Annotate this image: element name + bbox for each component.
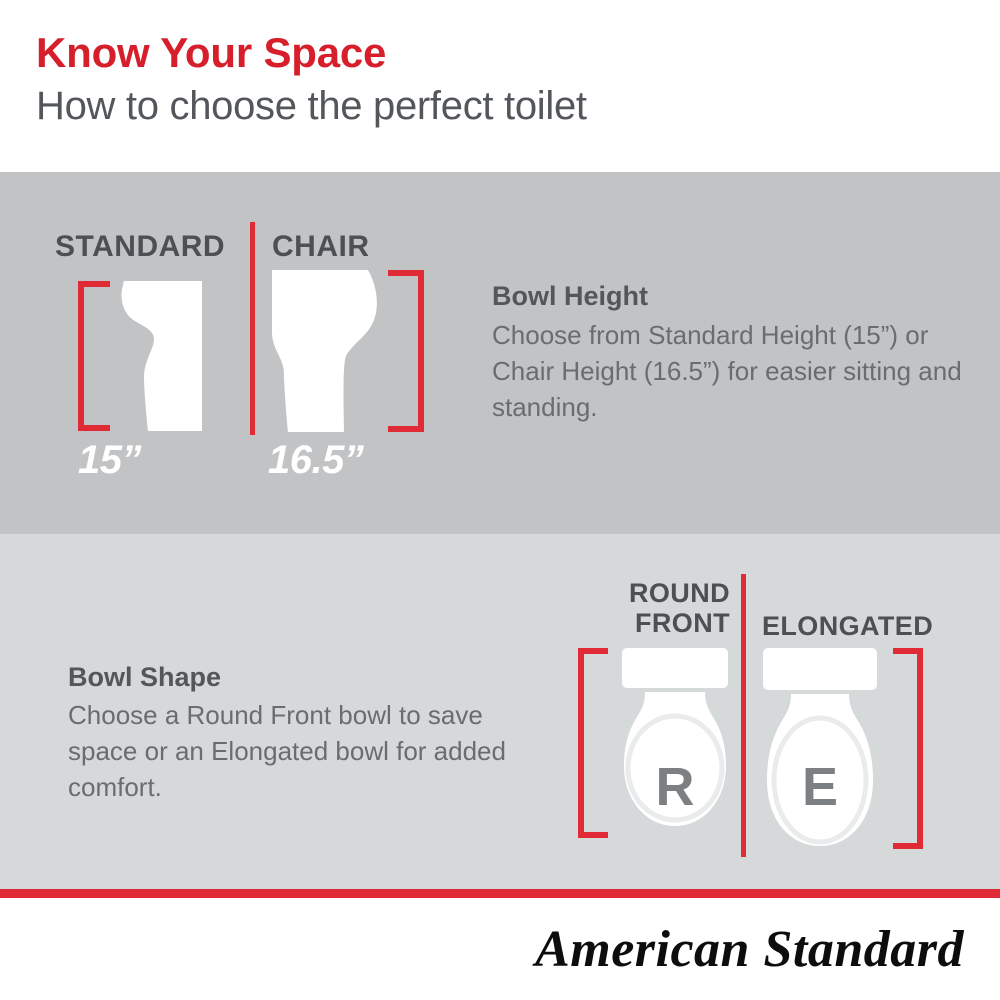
bowl-shape-body: Choose a Round Front bowl to save space … [68,698,538,806]
label-chair: CHAIR [272,230,370,264]
toilet-side-standard-icon [110,281,202,431]
toilet-side-chair-icon [272,270,380,432]
bowl-height-heading: Bowl Height [492,281,648,312]
mark-elongated: E [765,756,875,818]
bracket-standard-height [78,281,110,431]
label-round-front-line1: ROUND [629,578,730,608]
page-title: Know Your Space [36,32,386,74]
toilet-topview-elongated-icon [757,648,883,854]
bracket-chair-height [388,270,424,432]
brand-logo: American Standard [535,920,964,979]
dimension-standard: 15” [78,438,141,483]
mark-round-front: R [620,756,730,818]
bracket-elongated [893,648,923,849]
vertical-divider-shape [741,574,746,857]
bowl-height-body: Choose from Standard Height (15”) or Cha… [492,318,962,426]
infographic-page: Know Your Space How to choose the perfec… [0,0,1000,1000]
bowl-shape-heading: Bowl Shape [68,662,221,693]
red-divider-rule [0,889,1000,898]
page-subtitle: How to choose the perfect toilet [36,84,587,128]
label-standard: STANDARD [55,230,225,264]
header: Know Your Space How to choose the perfec… [0,0,1000,172]
dimension-chair: 16.5” [268,438,363,483]
label-elongated: ELONGATED [762,611,933,641]
bracket-round-front [578,648,608,838]
label-round-front-line2: FRONT [635,608,730,638]
label-round-front: ROUND FRONT [565,578,730,638]
vertical-divider-height [250,222,255,435]
